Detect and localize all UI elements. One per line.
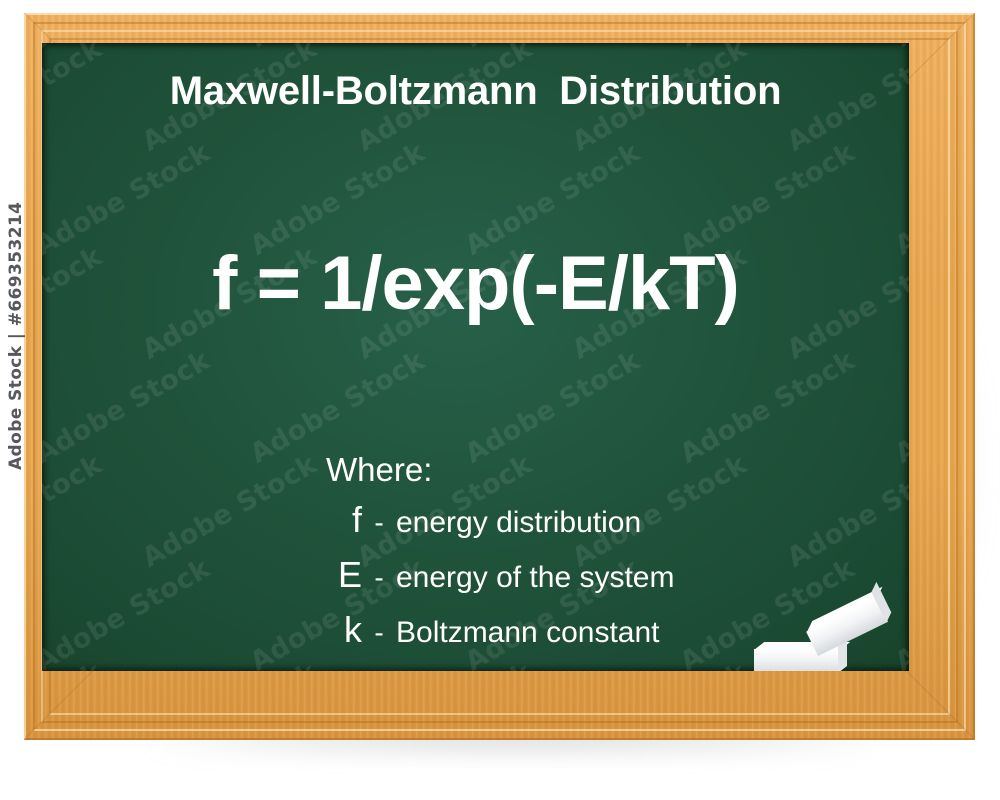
chalkboard-content: Maxwell-Boltzmann Distribution f = 1/exp…	[42, 43, 909, 671]
chalk-stick-flat	[754, 649, 840, 671]
adobe-stock-credit: Adobe Stock | #669353214	[6, 202, 26, 470]
list-item: E - energy of the system	[294, 554, 854, 609]
legend-dash: -	[366, 617, 392, 649]
list-item: f - energy distribution	[294, 499, 854, 554]
legend-symbol: k	[294, 609, 366, 651]
legend-description: energy distribution	[392, 506, 641, 540]
legend-description: energy of the system	[392, 561, 674, 595]
legend-dash: -	[366, 562, 392, 594]
page-title: Maxwell-Boltzmann Distribution	[42, 69, 909, 114]
legend-symbol: T	[294, 664, 366, 671]
legend-dash: -	[366, 507, 392, 539]
illustration-canvas: Adobe StockAdobe StockAdobe StockAdobe S…	[0, 0, 1000, 800]
where-label: Where:	[326, 451, 432, 489]
legend-description: Boltzmann constant	[392, 616, 659, 650]
legend-symbol: f	[294, 499, 366, 541]
legend-symbol: E	[294, 554, 366, 596]
chalkboard-surface: Adobe StockAdobe StockAdobe StockAdobe S…	[42, 43, 909, 671]
formula-expression: f = 1/exp(-E/kT)	[42, 240, 909, 327]
chalk-pieces	[714, 631, 904, 671]
